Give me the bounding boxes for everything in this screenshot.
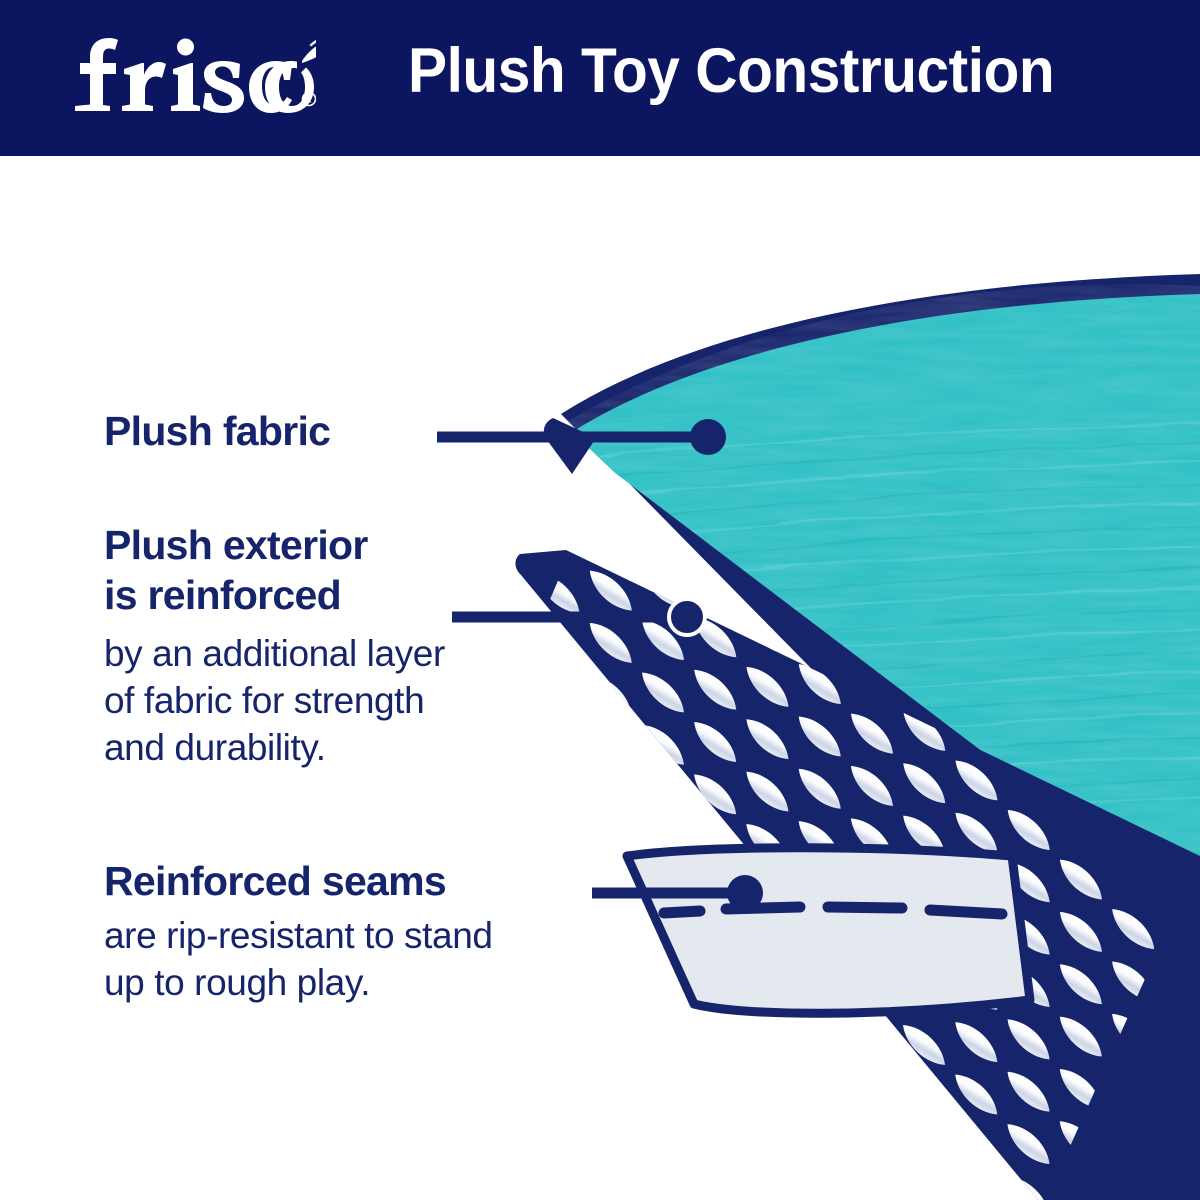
callout-body-reinforced-seams: are rip-resistant to stand up to rough p… — [104, 912, 493, 1006]
callout-reinforced-seams: Reinforced seams are rip-resistant to st… — [104, 856, 493, 1006]
callout-title-reinforced-seams: Reinforced seams — [104, 856, 493, 906]
callout-title-plush-exterior: Plush exterior is reinforced — [104, 520, 445, 620]
callout-body-plush-exterior: by an additional layer of fabric for str… — [104, 630, 445, 771]
callout-plush-exterior-reinforced: Plush exterior is reinforced by an addit… — [104, 520, 445, 771]
dot-plush-exterior — [669, 599, 705, 635]
callout-plush-fabric: Plush fabric — [104, 406, 330, 456]
infographic-page: R Plush Toy Construction — [0, 0, 1200, 1200]
callout-title-plush-fabric: Plush fabric — [104, 406, 330, 456]
frisco-logo: R — [66, 33, 316, 119]
dot-plush-fabric — [690, 419, 726, 455]
page-header: R Plush Toy Construction — [0, 0, 1200, 156]
page-title: Plush Toy Construction — [408, 31, 1059, 111]
svg-text:R: R — [306, 96, 312, 105]
reinforced-seam-panel — [627, 848, 1030, 1014]
dot-reinforced-seams — [727, 875, 763, 911]
